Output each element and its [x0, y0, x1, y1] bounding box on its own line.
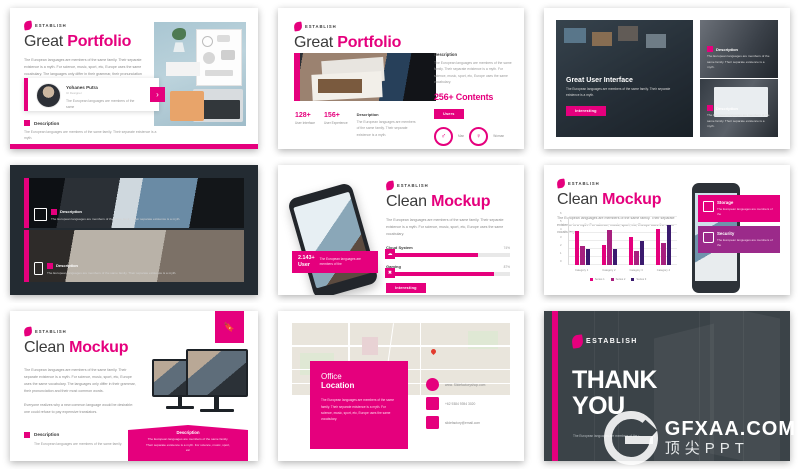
- chart-legend-item: Series 3: [631, 278, 646, 281]
- leaf-logo-icon: [23, 20, 32, 30]
- contact-list: www. Slidefactoryshop.com ✆ +62 9384 939…: [426, 378, 524, 435]
- contents-headline: 256+ Contents: [434, 92, 512, 102]
- female-label: Woman: [493, 134, 504, 138]
- slide-clean-mockup-chart[interactable]: ESTABLISH Clean Mockup The European lang…: [544, 165, 790, 295]
- feature-card-security[interactable]: Security The European languages are memb…: [698, 226, 780, 253]
- feature-card-storage[interactable]: Storage The European languages are membe…: [698, 195, 780, 222]
- progress-fill: [386, 253, 478, 257]
- profile-name: Yohanes Putra: [66, 85, 141, 90]
- slide6-title: Clean Mockup: [557, 192, 675, 209]
- slide5-right-column: ESTABLISH Clean Mockup The European lang…: [386, 181, 510, 294]
- progress-cloud-system: Cloud System 74% ☁: [386, 245, 510, 257]
- description-banner: Description The European languages are m…: [128, 425, 248, 461]
- slide1-workspace-photo: [154, 22, 246, 126]
- hero-body: The European languages are members of th…: [566, 87, 674, 99]
- brand-logo: ESTABLISH: [386, 181, 510, 190]
- profile-role: UI Designer: [66, 91, 141, 95]
- office-title-line2: Location: [321, 382, 397, 391]
- chart-legend: Series 1Series 2Series 3: [557, 278, 679, 281]
- globe-icon: [426, 378, 439, 391]
- card-caption: Description The European languages are m…: [707, 46, 771, 71]
- chart-y-tick: 3: [560, 235, 562, 239]
- chart-x-tick: Category 4: [657, 269, 670, 272]
- band-phone[interactable]: Description The European languages are m…: [24, 230, 244, 282]
- description-text: The European languages are members of th…: [434, 60, 512, 86]
- smartphone-icon: [34, 262, 43, 275]
- slide7-description: Description The European languages are m…: [24, 432, 146, 447]
- chart-plot-area: 0123456: [568, 217, 677, 265]
- chart-bar: [613, 249, 617, 265]
- contact-text: +62 9384 9394 3020: [445, 402, 475, 406]
- slide-cell-1[interactable]: ESTABLISH Great Portfolio The European l…: [0, 0, 268, 157]
- contact-email[interactable]: ✉ slidefactory@email.com: [426, 416, 524, 429]
- chart-bar: [602, 245, 606, 265]
- chart-bar: [667, 225, 671, 265]
- banner-text: The European languages are members of th…: [128, 437, 248, 454]
- description-label: Description: [357, 112, 419, 117]
- monitor-icon: [34, 208, 47, 221]
- chart-bar-groups: [569, 217, 677, 265]
- chart-legend-swatch: [590, 278, 593, 281]
- feature-text: The European languages are members of th…: [717, 238, 774, 249]
- contact-phone[interactable]: ✆ +62 9384 9394 3020: [426, 397, 524, 410]
- chart-bar-group: [602, 217, 617, 265]
- contact-website[interactable]: www. Slidefactoryshop.com: [426, 378, 524, 391]
- chart-bar-group: [629, 217, 644, 265]
- stat-label: User Experience: [324, 121, 348, 125]
- description-text: The European languages are members of th…: [707, 54, 771, 71]
- slide-great-user-interface[interactable]: Great User Interface The European langua…: [544, 8, 790, 149]
- band-monitor[interactable]: Description The European languages are m…: [24, 178, 244, 228]
- chart-x-tick: Category 1: [575, 269, 588, 272]
- chart-bar: [656, 229, 660, 265]
- slide-great-portfolio-stats[interactable]: ESTABLISH Great Portfolio 128+ User Inte…: [278, 8, 524, 149]
- hero-title: Great User Interface: [566, 77, 674, 84]
- gender-stats: ♂ Man ♀ Woman: [434, 127, 512, 146]
- chart-bar: [607, 230, 611, 265]
- bullet-square-icon: [24, 432, 30, 438]
- profile-card[interactable]: Yohanes Putra UI Designer The European l…: [24, 78, 159, 111]
- description-label: Description: [434, 52, 512, 57]
- chart-bar: [580, 246, 584, 265]
- slide-great-portfolio[interactable]: ESTABLISH Great Portfolio The European l…: [10, 8, 258, 149]
- slide-grid: ESTABLISH Great Portfolio The European l…: [0, 0, 800, 469]
- brand-logo: ESTABLISH: [572, 335, 638, 348]
- slide2-title: Great Portfolio: [294, 35, 401, 52]
- slide-cell-9[interactable]: ESTABLISH THANK YOU The European languag…: [534, 303, 800, 469]
- stat-label: User Interface: [295, 121, 315, 125]
- chart-x-labels: Category 1Category 2Category 3Category 4: [568, 269, 677, 272]
- description-text: The European languages are members of th…: [51, 217, 180, 221]
- chart-bar-group: [575, 217, 590, 265]
- chart-y-tick: 4: [560, 227, 562, 231]
- accent-stripe: [294, 53, 300, 101]
- description-text: The European languages are members of th…: [47, 271, 176, 275]
- accent-stripe: [24, 230, 29, 282]
- card-caption: Description The European languages are m…: [707, 105, 771, 130]
- gamepad-icon: ✖: [385, 268, 395, 278]
- description-label: Description: [56, 263, 78, 268]
- slide-cell-4[interactable]: Description The European languages are m…: [0, 157, 268, 303]
- progress-gaming: Gaming 87% ✖: [386, 264, 510, 276]
- badge-value: 2.143+: [298, 255, 315, 262]
- feature-text: The European languages are members of th…: [717, 207, 774, 218]
- bookmark-icon[interactable]: 🔖: [215, 311, 244, 343]
- user-count-badge: 2.143+ User The European languages are m…: [292, 251, 378, 273]
- chart-x-tick: Category 2: [602, 269, 615, 272]
- chart-y-tick: 0: [560, 259, 562, 263]
- chart-legend-item: Series 1: [590, 278, 605, 281]
- slide7-title: Clean Mockup: [24, 340, 136, 357]
- chart-y-tick: 2: [560, 243, 562, 247]
- bullet-square-icon: [24, 120, 30, 126]
- thankyou-background: ESTABLISH THANK YOU The European languag…: [544, 311, 790, 461]
- interesting-button[interactable]: Interesting: [386, 283, 426, 293]
- chart-legend-swatch: [631, 278, 634, 281]
- stat-item: 128+ User Interface: [295, 112, 315, 138]
- slide1-description: Description The European languages are m…: [24, 120, 164, 142]
- brand-wordmark: ESTABLISH: [35, 23, 67, 28]
- brand-wordmark: ESTABLISH: [397, 183, 429, 188]
- slide1-text-column: ESTABLISH Great Portfolio The European l…: [24, 21, 144, 85]
- slide7-body-2: Everyone realizes why a new common langu…: [24, 402, 136, 416]
- stat-description: Description The European languages are m…: [357, 112, 419, 138]
- slide2-header: ESTABLISH Great Portfolio: [294, 22, 401, 52]
- users-button[interactable]: Users: [434, 109, 464, 119]
- chart-bar: [586, 249, 590, 265]
- contact-text: slidefactory@email.com: [445, 421, 480, 425]
- chart-y-tick: 6: [560, 211, 562, 215]
- leaf-logo-icon: [556, 178, 565, 188]
- paper-stack: [166, 62, 200, 76]
- slide-cell-5[interactable]: 2.143+ User The European languages are m…: [268, 157, 534, 303]
- progress-track: ☁: [386, 253, 510, 257]
- thank-you-line-2: YOU: [572, 393, 657, 419]
- plant-leaf: [172, 28, 186, 40]
- leaf-logo-icon: [571, 334, 584, 348]
- stat-value: 156+: [324, 112, 348, 119]
- slide-cell-8[interactable]: Office Location The European languages a…: [268, 303, 534, 469]
- slide7-text-column: ESTABLISH Clean Mockup The European lang…: [24, 327, 136, 416]
- slide5-body: The European languages are members of th…: [386, 217, 510, 238]
- monitor-base: [166, 406, 194, 409]
- badge-text: The European languages are members of th…: [320, 257, 372, 267]
- doodle-board: [196, 29, 242, 86]
- description-text: The European languages are members of th…: [24, 129, 164, 142]
- slide-cell-2[interactable]: ESTABLISH Great Portfolio 128+ User Inte…: [268, 0, 534, 157]
- notebook: [170, 91, 204, 121]
- avatar: [36, 83, 61, 108]
- map-pin-icon: [430, 348, 437, 355]
- chart-legend-swatch: [611, 278, 614, 281]
- storage-icon: [703, 201, 714, 212]
- description-label: Description: [716, 106, 738, 111]
- chart-x-tick: Category 3: [630, 269, 643, 272]
- brand-logo: ESTABLISH: [24, 21, 144, 30]
- badge-unit: User: [298, 262, 315, 269]
- description-label: Description: [34, 121, 59, 126]
- brand-wordmark: ESTABLISH: [35, 329, 67, 334]
- chart-bar: [575, 231, 579, 265]
- monitor-base: [200, 409, 234, 412]
- chevron-right-icon[interactable]: ›: [150, 87, 165, 102]
- chart-legend-item: Series 2: [611, 278, 626, 281]
- male-label: Man: [458, 134, 464, 138]
- stat-value: 128+: [295, 112, 315, 119]
- accent-stripe: [552, 311, 558, 461]
- hero-text-block: Great User Interface The European langua…: [566, 77, 674, 117]
- slide-thank-you[interactable]: ESTABLISH THANK YOU The European languag…: [544, 311, 790, 461]
- slide-cell-3[interactable]: Great User Interface The European langua…: [534, 0, 800, 157]
- description-label: Description: [60, 209, 82, 214]
- slide-cell-6[interactable]: ESTABLISH Clean Mockup The European lang…: [534, 157, 800, 303]
- thank-you-line-1: THANK: [572, 367, 657, 393]
- chart-legend-label: Series 3: [636, 278, 646, 281]
- slide5-title: Clean Mockup: [386, 194, 510, 211]
- phone-screen: [293, 192, 372, 289]
- progress-percent: 87%: [504, 265, 510, 269]
- chart-bar: [640, 241, 644, 265]
- slide-clean-mockup-progress[interactable]: 2.143+ User The European languages are m…: [278, 165, 524, 295]
- slide7-body-1: The European languages are members of th…: [24, 367, 136, 395]
- female-icon: ♀: [469, 127, 488, 146]
- description-text: The European languages are members of th…: [357, 119, 419, 138]
- monitor-screen: [188, 351, 246, 395]
- hero-image: Great User Interface The European langua…: [556, 20, 693, 137]
- side-card-1[interactable]: Description The European languages are m…: [700, 20, 778, 78]
- bar-chart: 0123456 Category 1Category 2Category 3Ca…: [557, 215, 679, 281]
- brand-wordmark: ESTABLISH: [586, 338, 638, 345]
- progress-track: ✖: [386, 272, 510, 276]
- progress-percent: 74%: [504, 246, 510, 250]
- brand-wordmark: ESTABLISH: [568, 181, 600, 186]
- chart-bar-group: [656, 217, 671, 265]
- description-label: Description: [34, 432, 59, 437]
- description-label: Description: [716, 47, 738, 52]
- phone-icon: ✆: [426, 397, 439, 410]
- feature-title: Storage: [717, 200, 774, 205]
- chart-bar: [629, 237, 633, 265]
- bullet-square-icon: [707, 46, 713, 52]
- mail-icon: ✉: [426, 416, 439, 429]
- brand-logo: ESTABLISH: [24, 327, 136, 336]
- chart-bar: [661, 243, 665, 265]
- bullet-square-icon: [47, 263, 53, 269]
- chart-legend-label: Series 1: [595, 278, 605, 281]
- slide2-stats: 128+ User Interface 156+ User Experience…: [295, 112, 440, 138]
- slide-deck-preview-sheet: ESTABLISH Great Portfolio The European l…: [0, 0, 800, 469]
- interesting-button[interactable]: Interesting: [566, 106, 606, 116]
- slide2-photo: [294, 53, 436, 101]
- cloud-icon: ☁: [385, 249, 395, 259]
- male-icon: ♂: [434, 127, 453, 146]
- chart-y-tick: 5: [560, 219, 562, 223]
- description-text: The European languages are members of th…: [34, 441, 146, 447]
- leaf-logo-icon: [385, 180, 394, 190]
- slide2-right-column: Description The European languages are m…: [434, 52, 512, 146]
- band-caption: Description The European languages are m…: [34, 262, 234, 275]
- progress-fill: [386, 272, 494, 276]
- monitor-primary: [186, 349, 248, 397]
- accent-stripe: [24, 178, 29, 228]
- feature-cards: Storage The European languages are membe…: [698, 195, 780, 257]
- slide-dark-bands[interactable]: Description The European languages are m…: [10, 165, 258, 295]
- bullet-square-icon: [51, 209, 57, 215]
- side-card-2[interactable]: Description The European languages are m…: [700, 79, 778, 137]
- stat-item: 156+ User Experience: [324, 112, 348, 138]
- lock-icon: [703, 232, 714, 243]
- bottom-accent-bar: [10, 144, 258, 149]
- leaf-logo-icon: [293, 21, 302, 31]
- bullet-square-icon: [707, 105, 713, 111]
- thank-you-fine-print: The European languages are members of th…: [573, 433, 659, 439]
- feature-title: Security: [717, 231, 774, 236]
- chart-y-tick: 1: [560, 251, 562, 255]
- slide-clean-mockup-monitors[interactable]: 🔖 ESTABLISH Clean Mockup The European la…: [10, 311, 258, 461]
- slide1-title: Great Portfolio: [24, 34, 144, 51]
- office-body: The European languages are members of th…: [321, 397, 397, 423]
- brand-logo: ESTABLISH: [557, 179, 675, 188]
- leaf-logo-icon: [23, 326, 32, 336]
- brand-wordmark: ESTABLISH: [305, 24, 337, 29]
- contact-text: www. Slidefactoryshop.com: [445, 383, 485, 387]
- brand-logo: ESTABLISH: [294, 22, 401, 31]
- thank-you-heading: THANK YOU: [572, 367, 657, 420]
- phone-mockup: [287, 182, 379, 295]
- chart-bar: [634, 251, 638, 265]
- banner-title: Description: [128, 430, 248, 435]
- band-caption: Description The European languages are m…: [34, 208, 234, 221]
- accent-stripe: [24, 78, 28, 111]
- profile-text: The European languages are members of th…: [66, 98, 141, 111]
- description-text: The European languages are members of th…: [707, 113, 771, 130]
- office-location-panel: Office Location The European languages a…: [310, 361, 408, 449]
- chart-legend-label: Series 2: [616, 278, 626, 281]
- slide-office-location[interactable]: Office Location The European languages a…: [278, 311, 524, 461]
- slide-cell-7[interactable]: 🔖 ESTABLISH Clean Mockup The European la…: [0, 303, 268, 469]
